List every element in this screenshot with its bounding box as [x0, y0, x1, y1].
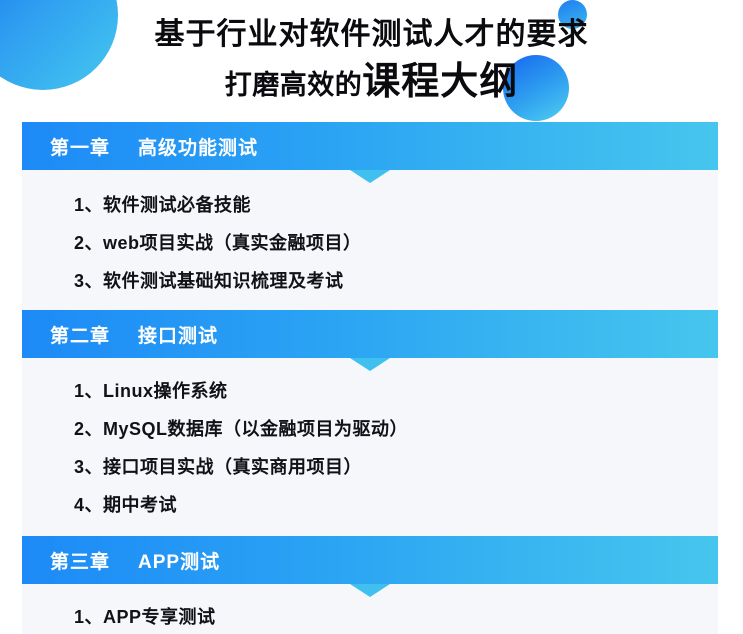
chapter-header-1[interactable]: 第一章 高级功能测试 [22, 122, 718, 170]
chapter-body-2: 1、Linux操作系统 2、MySQL数据库（以金融项目为驱动） 3、接口项目实… [22, 358, 718, 536]
list-item: 1、软件测试必备技能 [22, 186, 718, 224]
chapter-section-1: 第一章 高级功能测试 1、软件测试必备技能 2、web项目实战（真实金融项目） … [22, 122, 718, 310]
list-item: 1、APP专享测试 [22, 598, 718, 634]
page-title-line-2-prefix: 打磨高效的 [225, 70, 363, 100]
chapter-name-2: 接口测试 [138, 321, 218, 348]
list-item: 1、Linux操作系统 [22, 372, 718, 410]
course-outline-poster: 基于行业对软件测试人才的要求 打磨高效的课程大纲 第一章 高级功能测试 1、软件… [0, 0, 743, 634]
chevron-down-icon-1 [350, 170, 390, 183]
list-item: 4、期中考试 [22, 486, 718, 524]
chevron-down-icon-3 [350, 584, 390, 597]
chapter-section-2: 第二章 接口测试 1、Linux操作系统 2、MySQL数据库（以金融项目为驱动… [22, 310, 718, 536]
chapter-header-3[interactable]: 第三章 APP测试 [22, 536, 718, 584]
chapter-section-3: 第三章 APP测试 1、APP专享测试 2、APP项目实战（真实金融app） [22, 536, 718, 634]
chevron-down-icon-2 [350, 358, 390, 371]
page-title-line-2: 打磨高效的课程大纲 [0, 56, 743, 116]
list-item: 3、接口项目实战（真实商用项目） [22, 448, 718, 486]
chapter-name-3: APP测试 [138, 547, 220, 574]
chapter-body-1: 1、软件测试必备技能 2、web项目实战（真实金融项目） 3、软件测试基础知识梳… [22, 170, 718, 310]
poster-heading: 基于行业对软件测试人才的要求 打磨高效的课程大纲 [0, 0, 743, 116]
list-item: 2、MySQL数据库（以金融项目为驱动） [22, 410, 718, 448]
page-title-line-1: 基于行业对软件测试人才的要求 [0, 14, 743, 56]
chapter-label-3: 第三章 [50, 547, 110, 574]
chapter-label-2: 第二章 [50, 321, 110, 348]
chapter-label-1: 第一章 [50, 133, 110, 160]
page-title-line-2-emphasis: 课程大纲 [362, 61, 518, 103]
list-item: 3、软件测试基础知识梳理及考试 [22, 262, 718, 300]
list-item: 2、web项目实战（真实金融项目） [22, 224, 718, 262]
outline-panel: 第一章 高级功能测试 1、软件测试必备技能 2、web项目实战（真实金融项目） … [22, 122, 718, 634]
chapter-name-1: 高级功能测试 [138, 133, 258, 160]
chapter-header-2[interactable]: 第二章 接口测试 [22, 310, 718, 358]
